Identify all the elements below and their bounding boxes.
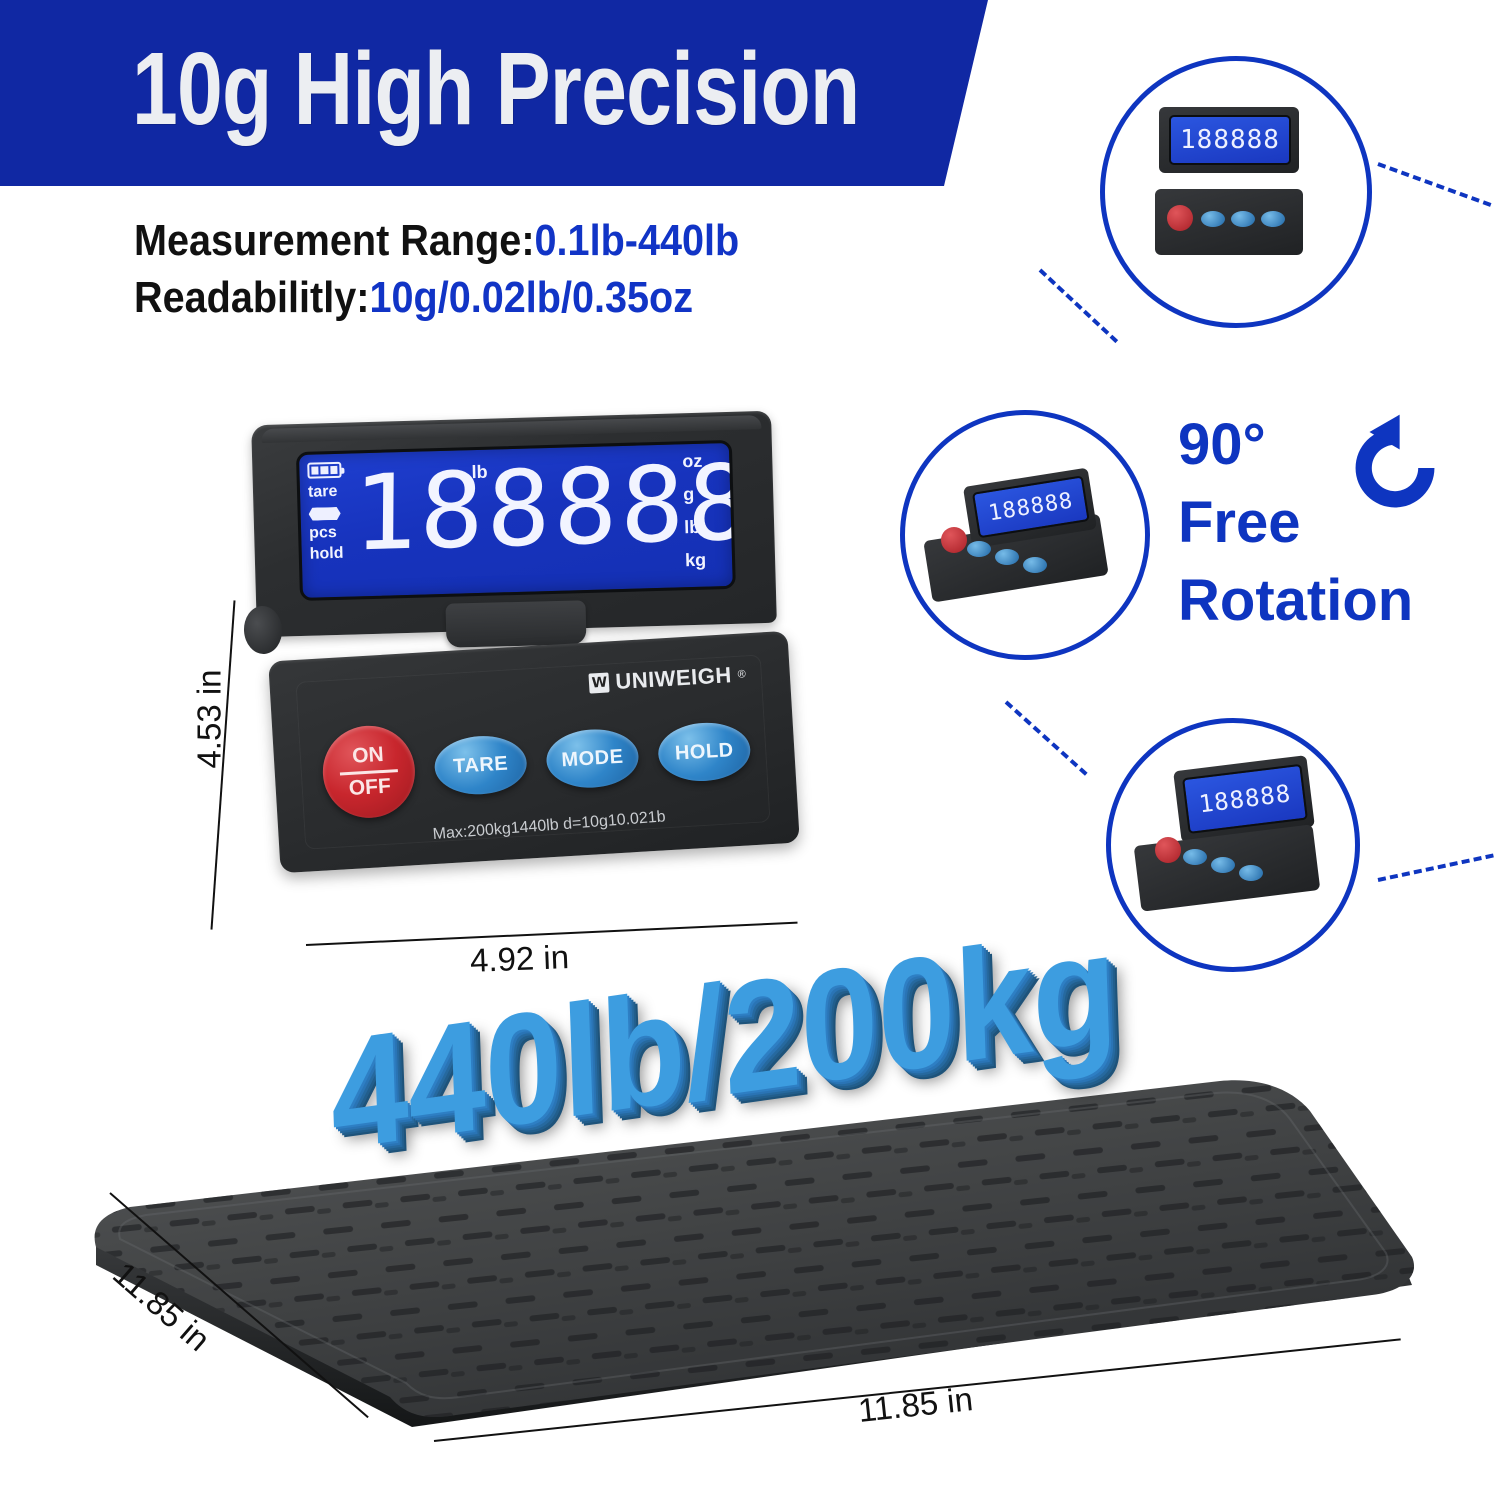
mini-hold-button-3 [1239,865,1263,881]
mini-tare-button-1 [1201,211,1225,227]
mini-on-off-button-3 [1155,837,1181,863]
mini-lcd-3: 188888 [1182,764,1308,834]
rotation-heading-free: Free [1178,492,1301,554]
connector-dash-bottom-left [1005,701,1088,776]
inset-display-upright: 188888 [1100,56,1372,328]
platform-product-photo: 440lb/200kg [60,985,1460,1445]
lcd-unit-oz: oz [682,451,722,470]
spec-label-measurement-range: Measurement Range: [134,216,535,265]
lcd-unit-list: oz g lb kg [682,451,726,584]
mode-button[interactable]: MODE [545,727,640,790]
lcd-screen: tare pcs hold 188888 lb oz g lb kg [296,440,736,601]
tare-button[interactable]: TARE [433,734,528,797]
on-label: ON [352,744,385,768]
rotate-ccw-icon [1336,410,1454,526]
spec-row-measurement-range: Measurement Range:0.1lb-440lb [134,212,890,269]
mini-lcd-2: 188888 [972,475,1090,538]
dim-label-head-height: 4.53 in [191,669,229,768]
rotation-heading-degrees: 90° [1178,414,1266,476]
scale-head-product-photo: tare pcs hold 188888 lb oz g lb kg [236,418,806,938]
dim-label-head-width: 4.92 in [469,938,569,980]
mini-tare-button-3 [1183,849,1207,865]
mode-label: MODE [561,745,624,772]
mini-mode-button-2 [995,549,1019,565]
mini-display-housing-1: 188888 [1159,107,1299,173]
display-top-edge [261,415,761,443]
lcd-sub-unit: lb [471,462,488,483]
lcd-unit-lb: lb [684,517,724,536]
connector-dash-top-right [1377,162,1491,207]
spec-label-readability: Readabilitly: [134,273,369,322]
connector-dash-bottom-right [1378,854,1494,882]
stable-hexagon-icon [308,507,340,521]
lcd-unit-g: g [683,484,723,503]
spec-value-measurement-range: 0.1lb-440lb [535,216,740,265]
mini-keypad-housing-1 [1155,189,1303,255]
hold-label: HOLD [674,739,734,765]
mini-hold-button-1 [1261,211,1285,227]
brand-name: UNIWEIGH [615,662,733,695]
mini-on-off-button-2 [941,527,967,553]
spec-list: Measurement Range:0.1lb-440lb Readabilit… [134,212,974,326]
spec-row-readability: Readabilitly:10g/0.02lb/0.35oz [134,269,890,326]
keypad-housing: W UNIWEIGH ® ON OFF TARE MODE HOLD Max:2… [268,631,800,873]
mini-on-off-button-1 [1167,205,1193,231]
mini-lcd-1: 188888 [1169,115,1291,165]
page-title: 10g High Precision [132,14,859,164]
lcd-digits: 188888 [352,450,736,565]
tare-label: TARE [453,752,509,778]
rotation-heading-rotation: Rotation [1178,570,1413,632]
hold-button[interactable]: HOLD [657,720,752,783]
spec-value-readability: 10g/0.02lb/0.35oz [369,273,693,322]
battery-icon [307,462,341,479]
on-off-button[interactable]: ON OFF [320,723,417,820]
mini-mode-button-1 [1231,211,1255,227]
mini-tare-button-2 [967,541,991,557]
capacity-text: Max:200kg1440lb d=10g10.021b [432,808,666,844]
keypad-panel: W UNIWEIGH ® ON OFF TARE MODE HOLD Max:2… [295,654,770,849]
connector-dash-top [1039,269,1119,344]
brand-registered-icon: ® [737,668,746,680]
hinge-bar [445,600,586,647]
mini-mode-button-3 [1211,857,1235,873]
mini-hold-button-2 [1023,557,1047,573]
inset-display-flat: 188888 [900,410,1150,660]
inset-display-tilted: 188888 [1106,718,1360,972]
off-label: OFF [348,775,391,799]
button-row: ON OFF TARE MODE HOLD [320,703,753,820]
lcd-unit-kg: kg [685,550,725,569]
infographic-stage: 10g High Precision Measurement Range:0.1… [0,0,1500,1500]
brand-logo: W UNIWEIGH ® [589,661,747,696]
brand-mark-icon: W [589,672,610,693]
